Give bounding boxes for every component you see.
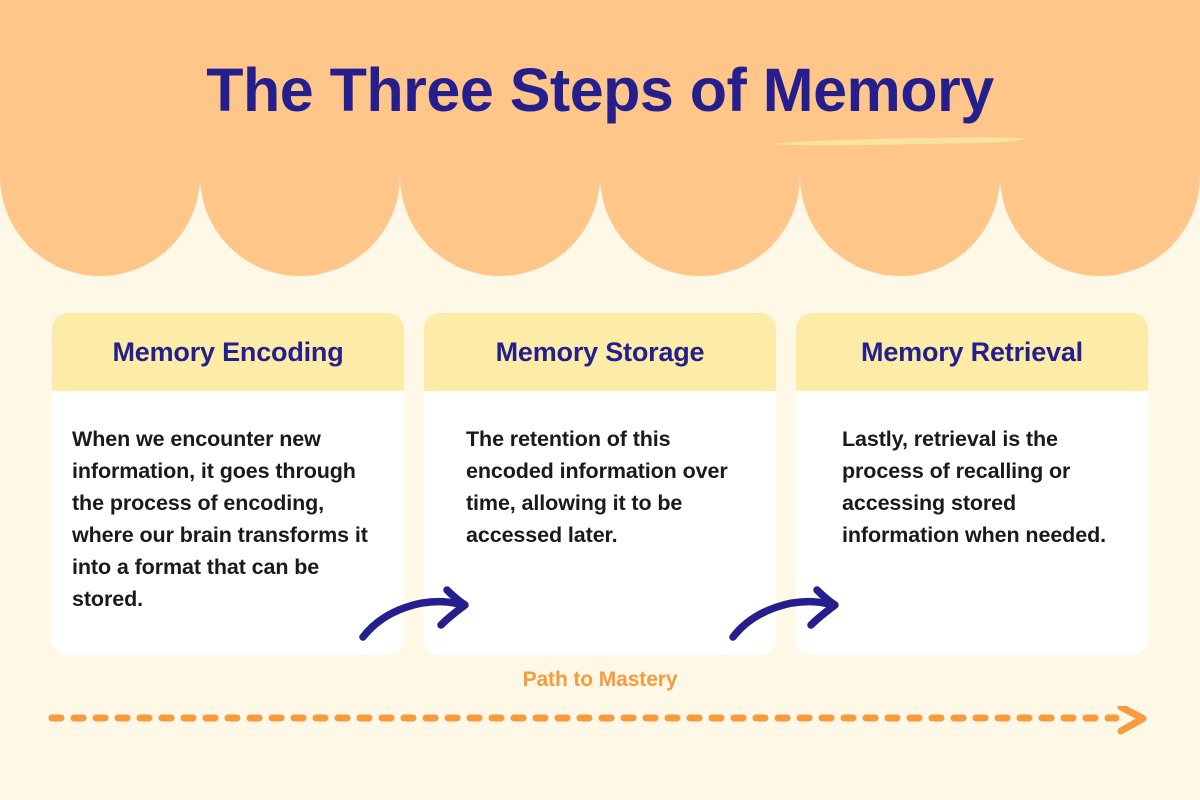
step-card-title: Memory Retrieval bbox=[861, 337, 1083, 368]
step-card-header: Memory Storage bbox=[424, 313, 776, 391]
step-card-header: Memory Retrieval bbox=[796, 313, 1148, 391]
page-title: The Three Steps of Memory bbox=[0, 58, 1200, 122]
step-card-description: Lastly, retrieval is the process of reca… bbox=[842, 423, 1134, 551]
dashed-arrow-right-icon bbox=[48, 706, 1152, 746]
step-card-memory-retrieval[interactable]: Memory Retrieval Lastly, retrieval is th… bbox=[796, 313, 1148, 655]
step-card-body: Lastly, retrieval is the process of reca… bbox=[796, 391, 1148, 655]
step-card-memory-storage[interactable]: Memory Storage The retention of this enc… bbox=[424, 313, 776, 655]
steps-card-group: Memory Encoding When we encounter new in… bbox=[52, 313, 1148, 655]
footer-progress-section: Path to Mastery bbox=[0, 668, 1200, 758]
step-card-description: When we encounter new information, it go… bbox=[72, 423, 390, 615]
step-card-description: The retention of this encoded informatio… bbox=[466, 423, 762, 551]
footer-caption: Path to Mastery bbox=[0, 668, 1200, 692]
header-banner bbox=[0, 0, 1200, 270]
step-card-header: Memory Encoding bbox=[52, 313, 404, 391]
brush-stroke-underline-icon bbox=[766, 136, 1030, 147]
step-card-body: The retention of this encoded informatio… bbox=[424, 391, 776, 655]
step-card-title: Memory Storage bbox=[496, 337, 705, 368]
step-card-body: When we encounter new information, it go… bbox=[52, 391, 404, 655]
step-card-memory-encoding[interactable]: Memory Encoding When we encounter new in… bbox=[52, 313, 404, 655]
step-card-title: Memory Encoding bbox=[112, 337, 343, 368]
